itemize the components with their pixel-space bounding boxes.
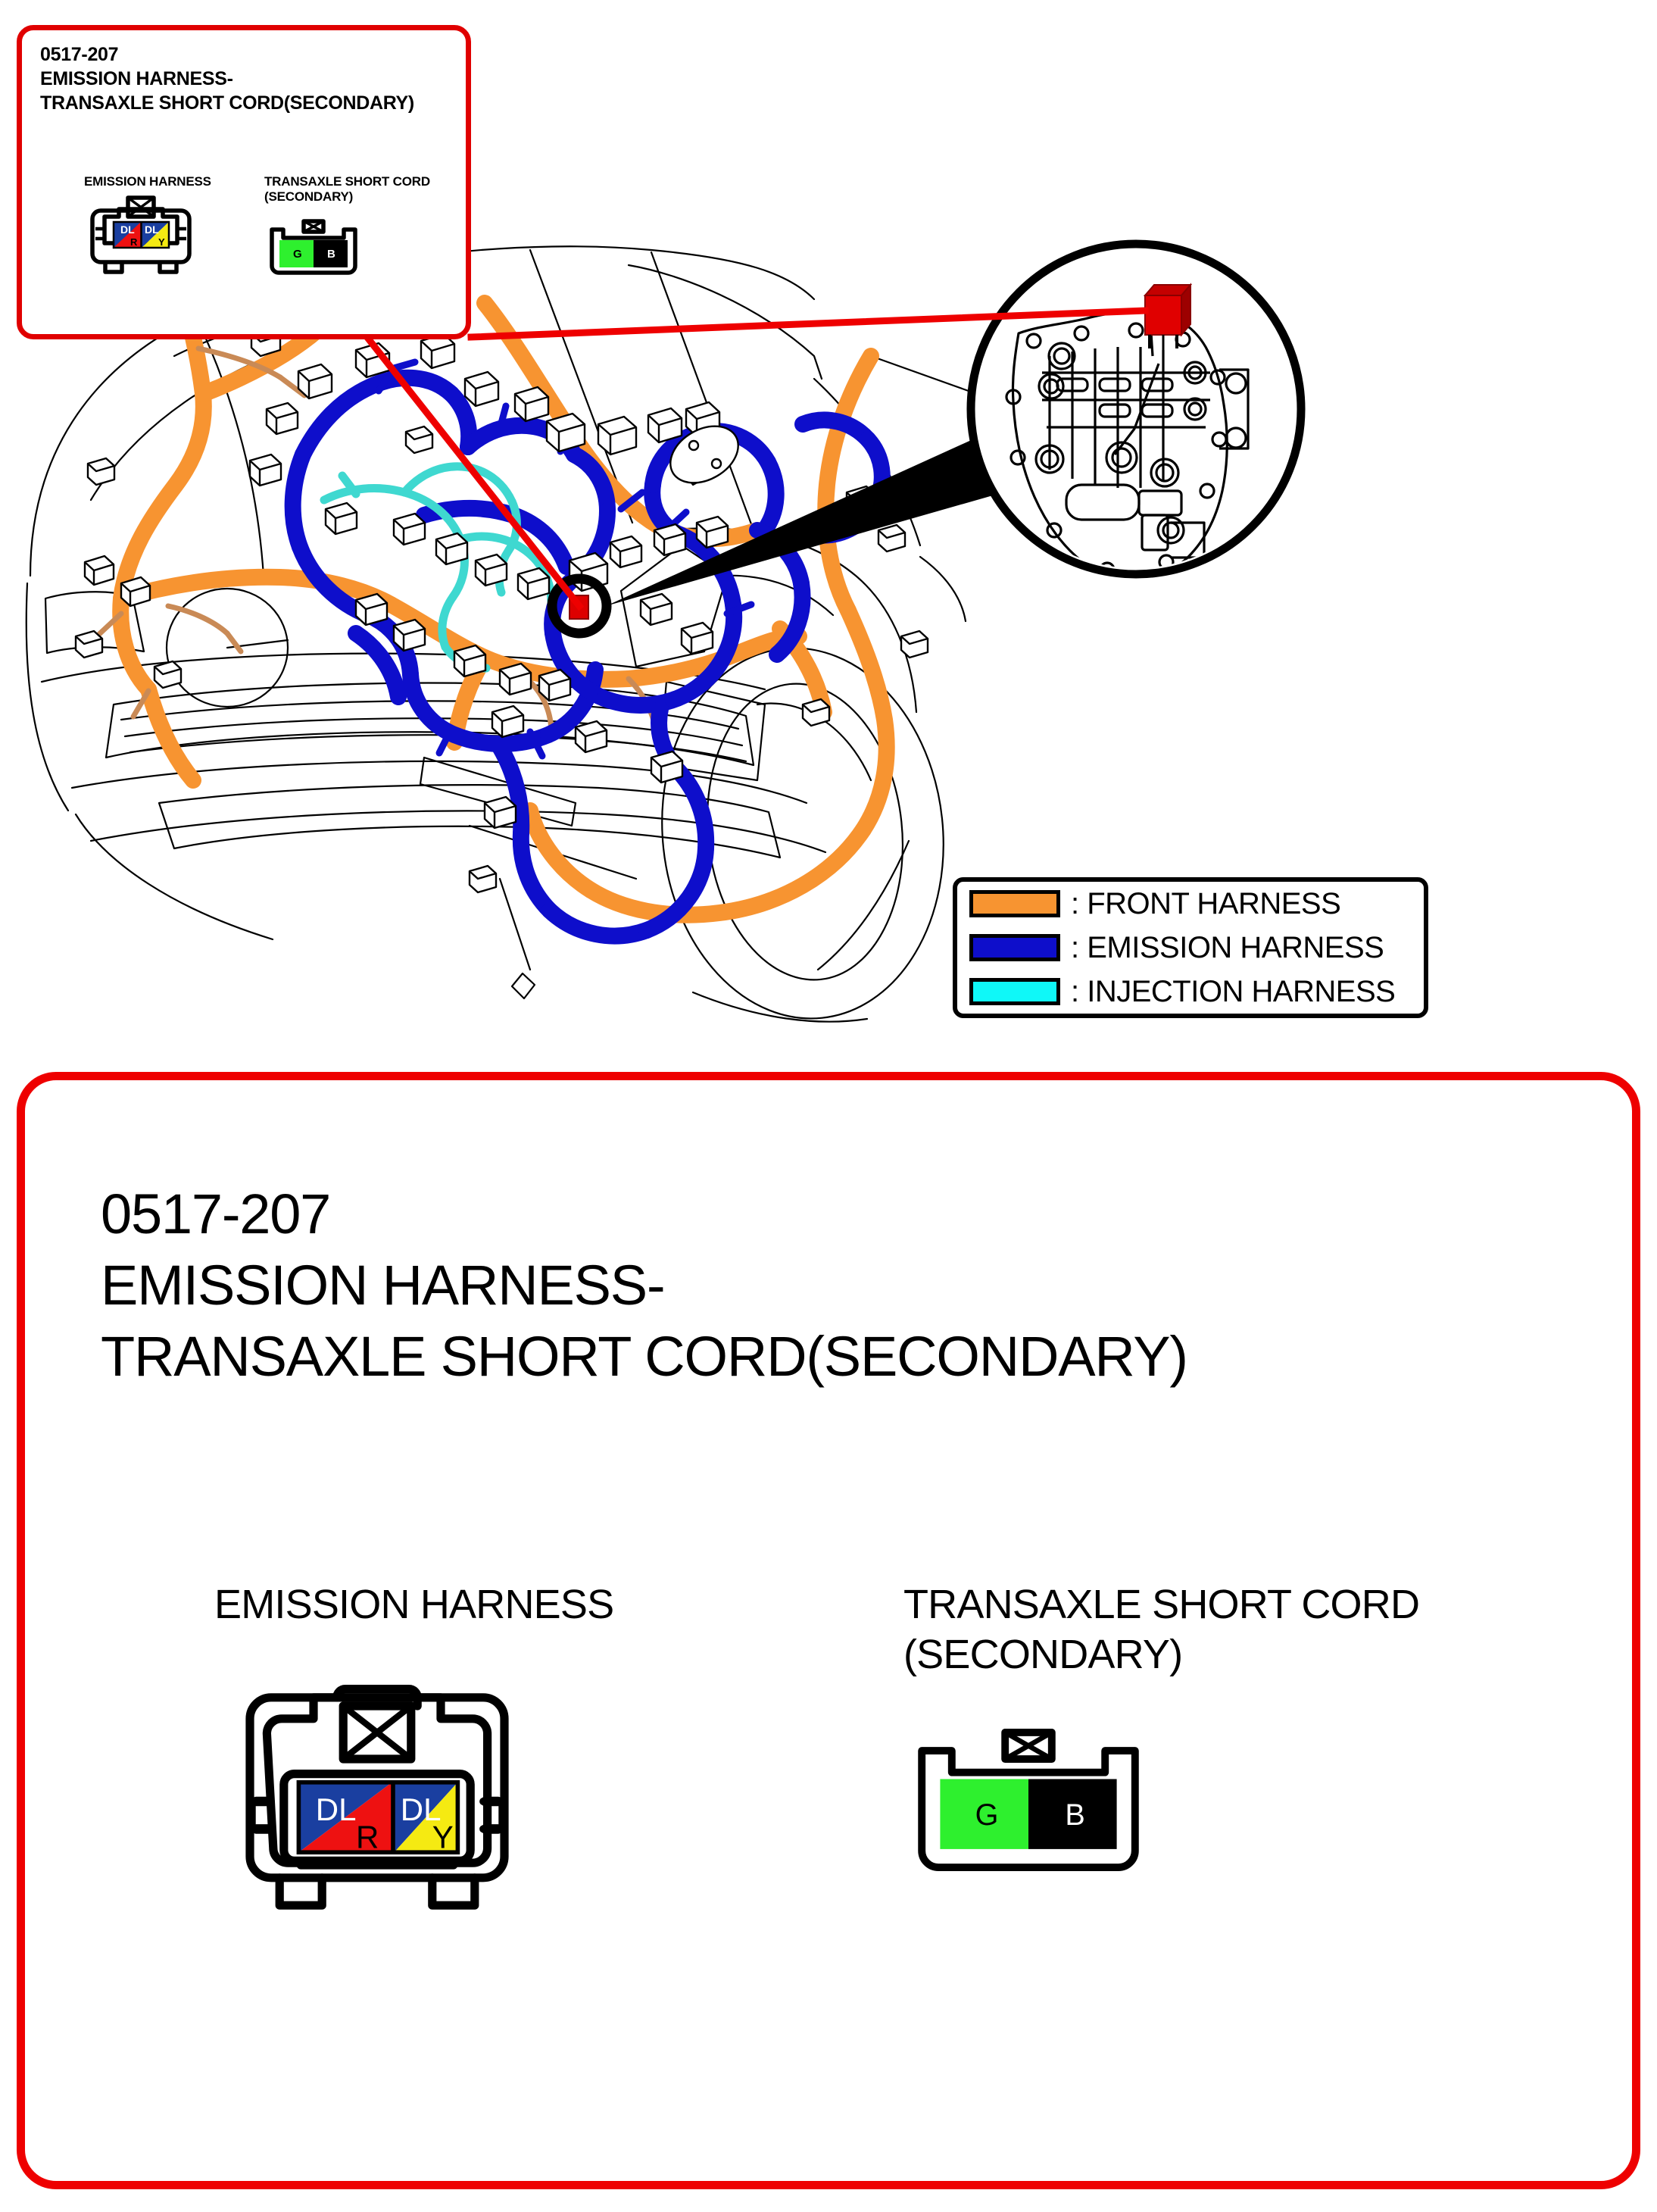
legend-swatch-injection-harness	[969, 978, 1060, 1005]
top-callout-box: 0517-207 EMISSION HARNESS- TRANSAXLE SHO…	[17, 25, 471, 339]
legend-label-emission-harness: : EMISSION HARNESS	[1071, 933, 1384, 963]
cavity-1-lower-code: R	[130, 236, 138, 248]
cavity-2-upper-code: DL	[145, 223, 159, 236]
top-callout-transaxle-short-cord: TRANSAXLE SHORT CORD (SECONDARY) G B	[264, 174, 430, 283]
emission-harness-connector-icon-large: DL R DL Y	[214, 1653, 540, 1918]
top-callout-connector-group: EMISSION HARNESS DL R	[37, 174, 461, 326]
bottom-panel-title: 0517-207 EMISSION HARNESS- TRANSAXLE SHO…	[101, 1179, 1585, 1392]
cavity-2-lower-code: Y	[158, 236, 165, 248]
top-callout-emission-harness: EMISSION HARNESS DL R	[84, 174, 211, 277]
cavity-1-large-upper-code: DL	[316, 1792, 357, 1827]
cavity-2: DL Y	[142, 222, 169, 248]
cavity-g-large-code: G	[975, 1798, 999, 1832]
harness-color-legend: : FRONT HARNESS : EMISSION HARNESS : INJ…	[953, 877, 1428, 1018]
cavity-1-large-lower-code: R	[356, 1819, 379, 1854]
top-callout-emission-harness-label: EMISSION HARNESS	[84, 174, 211, 189]
transaxle-short-cord-connector-icon-small: G B	[264, 219, 363, 283]
bottom-panel-transaxle-short-cord-label: TRANSAXLE SHORT CORD (SECONDARY)	[903, 1580, 1419, 1680]
legend-swatch-emission-harness	[969, 934, 1060, 961]
legend-swatch-front-harness	[969, 890, 1060, 917]
bottom-detail-panel: 0517-207 EMISSION HARNESS- TRANSAXLE SHO…	[17, 1072, 1640, 2189]
bottom-panel-emission-harness-label: EMISSION HARNESS	[214, 1580, 613, 1630]
cavity-1-large: DL R	[298, 1782, 392, 1855]
cavity-b-large-code: B	[1065, 1798, 1084, 1832]
cavity-g-code: G	[293, 248, 302, 261]
cavity-2-large: DL Y	[394, 1782, 457, 1855]
cavity-2-large-lower-code: Y	[432, 1819, 454, 1854]
legend-label-front-harness: : FRONT HARNESS	[1071, 889, 1340, 919]
bottom-panel-emission-harness: EMISSION HARNESS	[214, 1580, 613, 1918]
cavity-1-upper-code: DL	[120, 223, 135, 236]
magnifier-circle	[971, 244, 1301, 580]
transaxle-short-cord-connector-icon-large: G B	[903, 1729, 1153, 1888]
emission-harness-connector-icon-small: DL R DL Y	[84, 194, 198, 277]
bottom-panel-transaxle-short-cord: TRANSAXLE SHORT CORD (SECONDARY) G B	[903, 1580, 1419, 1888]
legend-row-front-harness: : FRONT HARNESS	[957, 882, 1424, 926]
cavity-1: DL R	[114, 222, 141, 248]
legend-row-emission-harness: : EMISSION HARNESS	[957, 926, 1424, 970]
legend-row-injection-harness: : INJECTION HARNESS	[957, 970, 1424, 1014]
top-callout-title: 0517-207 EMISSION HARNESS- TRANSAXLE SHO…	[40, 42, 464, 115]
bottom-panel-connector-group: EMISSION HARNESS	[116, 1580, 1600, 2110]
vehicle-outline	[27, 246, 977, 1033]
legend-label-injection-harness: : INJECTION HARNESS	[1071, 976, 1395, 1007]
top-callout-transaxle-short-cord-label: TRANSAXLE SHORT CORD (SECONDARY)	[264, 174, 430, 205]
cavity-b-code: B	[327, 248, 335, 261]
